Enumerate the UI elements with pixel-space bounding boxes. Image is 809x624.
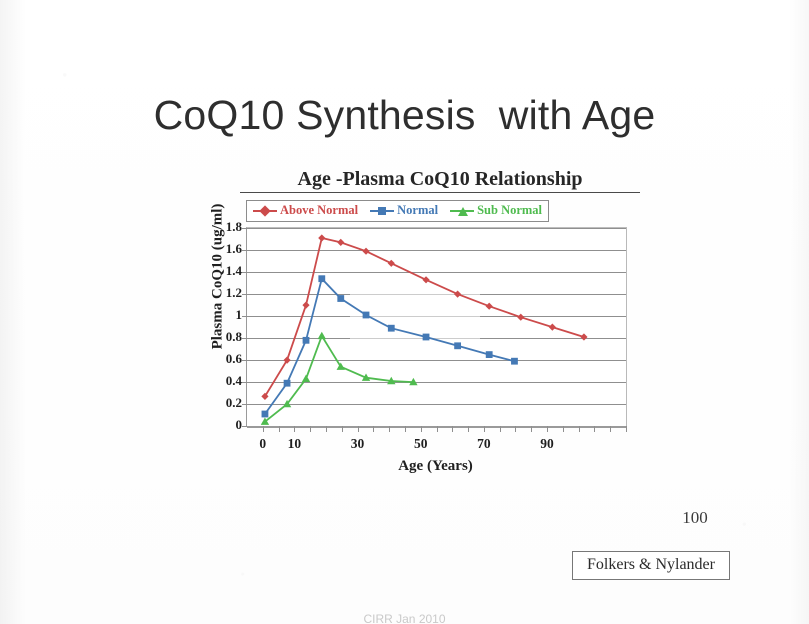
legend-marker-square-icon bbox=[370, 205, 394, 216]
chart-legend: Above Normal Normal Sub Normal bbox=[246, 200, 549, 222]
x-axis-tick bbox=[484, 426, 485, 432]
legend-label-sub-normal: Sub Normal bbox=[477, 203, 542, 218]
legend-item-sub-normal[interactable]: Sub Normal bbox=[450, 203, 542, 218]
y-axis-tick-label: 0.2 bbox=[202, 395, 242, 411]
x-axis-tick bbox=[547, 426, 548, 432]
data-point-marker bbox=[517, 314, 524, 321]
footer-note: CIRR Jan 2010 bbox=[0, 612, 809, 624]
data-point-marker bbox=[318, 234, 325, 241]
data-point-marker bbox=[423, 334, 430, 341]
x-axis-tick bbox=[452, 426, 453, 432]
data-point-marker bbox=[284, 380, 291, 387]
x-axis-tick bbox=[373, 426, 374, 432]
data-point-marker bbox=[511, 358, 518, 365]
series-sub-normal bbox=[261, 332, 418, 425]
x-axis-tick-label: 30 bbox=[338, 436, 378, 452]
data-point-marker bbox=[337, 295, 344, 302]
x-axis-tick-label: 70 bbox=[464, 436, 504, 452]
legend-marker-diamond-icon bbox=[253, 205, 277, 216]
x-axis-title: Age (Years) bbox=[246, 458, 625, 475]
data-point-marker bbox=[318, 275, 325, 282]
data-point-marker bbox=[318, 332, 326, 339]
data-point-marker bbox=[388, 260, 395, 267]
x-axis-tick bbox=[389, 426, 390, 432]
chart-container: Age -Plasma CoQ10 Relationship Above Nor… bbox=[180, 168, 640, 488]
data-point-marker bbox=[302, 302, 309, 309]
data-point-marker bbox=[362, 248, 369, 255]
x-axis-tick bbox=[626, 426, 627, 432]
credit-attribution-box: Folkers & Nylander bbox=[572, 551, 730, 580]
data-point-marker bbox=[422, 276, 429, 283]
y-axis-title: Plasma CoQ10 (ug/ml) bbox=[210, 177, 227, 377]
chart-series-layer bbox=[246, 227, 625, 425]
data-point-marker bbox=[549, 324, 556, 331]
series-above-normal bbox=[261, 234, 587, 400]
x-axis-tick bbox=[563, 426, 564, 432]
data-point-marker bbox=[262, 411, 269, 418]
legend-marker-triangle-icon bbox=[450, 205, 474, 216]
x-axis-tick bbox=[531, 426, 532, 432]
x-axis-tick bbox=[310, 426, 311, 432]
data-point-marker bbox=[388, 325, 395, 332]
data-point-marker bbox=[363, 312, 370, 319]
x-axis-tick-label: 90 bbox=[527, 436, 567, 452]
page-number: 100 bbox=[640, 508, 750, 528]
x-axis-tick-label: 10 bbox=[274, 436, 314, 452]
y-axis-tick-label: 0 bbox=[202, 417, 242, 433]
data-point-marker bbox=[303, 337, 310, 344]
x-axis-tick bbox=[342, 426, 343, 432]
x-axis-tick bbox=[326, 426, 327, 432]
data-point-marker bbox=[486, 351, 493, 358]
x-axis-tick bbox=[263, 426, 264, 432]
chart-title: Age -Plasma CoQ10 Relationship bbox=[240, 168, 640, 193]
x-axis-tick bbox=[610, 426, 611, 432]
x-axis-tick bbox=[358, 426, 359, 432]
legend-label-normal: Normal bbox=[397, 203, 438, 218]
data-point-marker bbox=[337, 239, 344, 246]
legend-item-above-normal[interactable]: Above Normal bbox=[253, 203, 358, 218]
data-point-marker bbox=[486, 303, 493, 310]
x-axis-tick bbox=[437, 426, 438, 432]
series-line bbox=[265, 279, 515, 414]
data-point-marker bbox=[454, 291, 461, 298]
legend-label-above-normal: Above Normal bbox=[280, 203, 358, 218]
x-axis-tick-label: 50 bbox=[401, 436, 441, 452]
x-axis-tick bbox=[579, 426, 580, 432]
x-axis-tick bbox=[515, 426, 516, 432]
data-point-marker bbox=[580, 333, 587, 340]
legend-item-normal[interactable]: Normal bbox=[370, 203, 438, 218]
x-axis-tick bbox=[421, 426, 422, 432]
series-normal bbox=[262, 275, 518, 417]
x-axis-tick bbox=[468, 426, 469, 432]
x-axis-tick bbox=[500, 426, 501, 432]
slide-title: CoQ10 Synthesis with Age bbox=[0, 92, 809, 139]
x-axis-tick bbox=[405, 426, 406, 432]
x-axis-tick bbox=[294, 426, 295, 432]
x-axis-tick bbox=[594, 426, 595, 432]
x-axis-tick bbox=[279, 426, 280, 432]
data-point-marker bbox=[302, 375, 310, 382]
data-point-marker bbox=[454, 342, 461, 349]
